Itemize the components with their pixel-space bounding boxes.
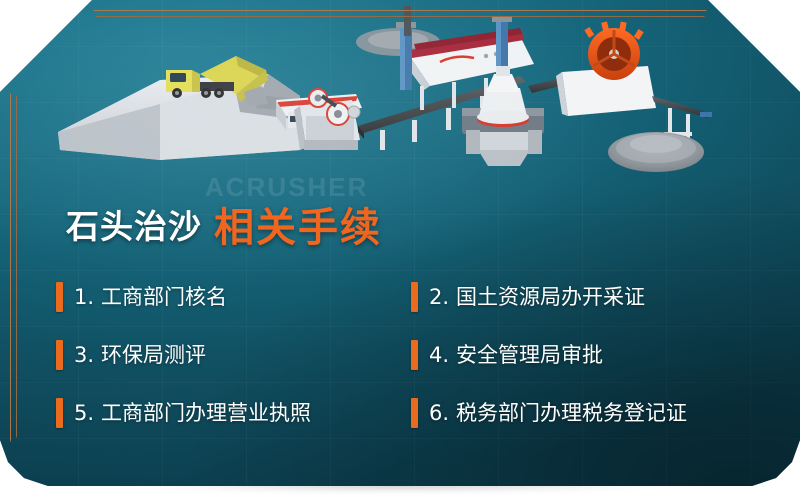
copper-border-inner [16,16,786,472]
poster-root: ACRUSHER 石头治沙 相关手续 1. 工商部门核名 2. 国土资源局办开采… [0,0,800,500]
